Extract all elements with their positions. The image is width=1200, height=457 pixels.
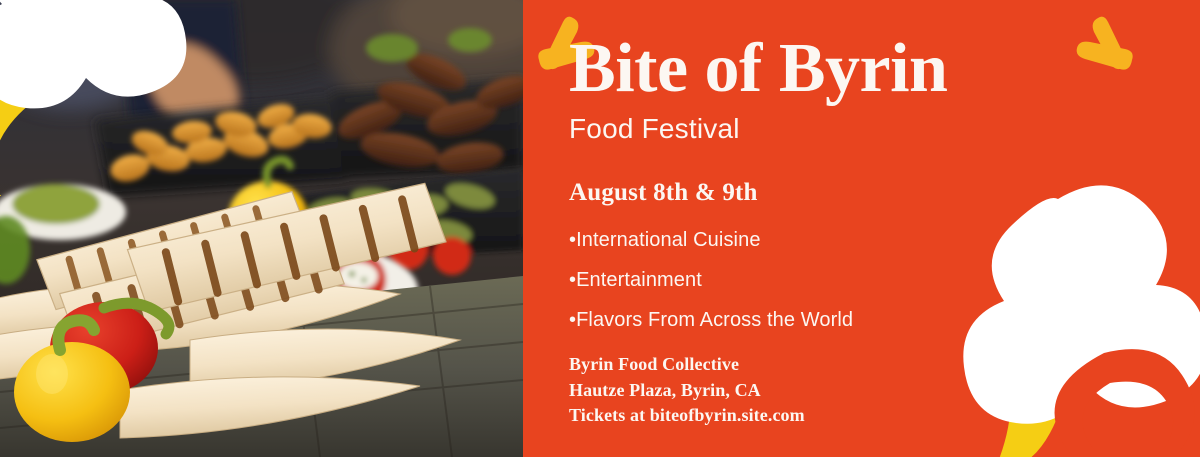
- festival-photo: [0, 0, 523, 457]
- list-item: •Flavors From Across the World: [569, 310, 1129, 330]
- food-photo-illustration: [0, 0, 523, 457]
- page-subtitle: Food Festival: [569, 114, 1129, 145]
- venue-address: Hautze Plaza, Byrin, CA: [569, 378, 1129, 404]
- feature-list: •International Cuisine •Entertainment •F…: [569, 230, 1129, 330]
- tickets-link[interactable]: Tickets at biteofbyrin.site.com: [569, 403, 1129, 429]
- text-stack: Bite of Byrin Food Festival August 8th &…: [569, 34, 1129, 429]
- organizer-name: Byrin Food Collective: [569, 352, 1129, 378]
- event-date: August 8th & 9th: [569, 179, 1129, 207]
- list-item: •International Cuisine: [569, 230, 1129, 250]
- list-item: •Entertainment: [569, 270, 1129, 290]
- event-banner: Bite of Byrin Food Festival August 8th &…: [0, 0, 1200, 457]
- content-panel: Bite of Byrin Food Festival August 8th &…: [523, 0, 1200, 457]
- page-title: Bite of Byrin: [569, 34, 1129, 104]
- organizer-info: Byrin Food Collective Hautze Plaza, Byri…: [569, 352, 1129, 429]
